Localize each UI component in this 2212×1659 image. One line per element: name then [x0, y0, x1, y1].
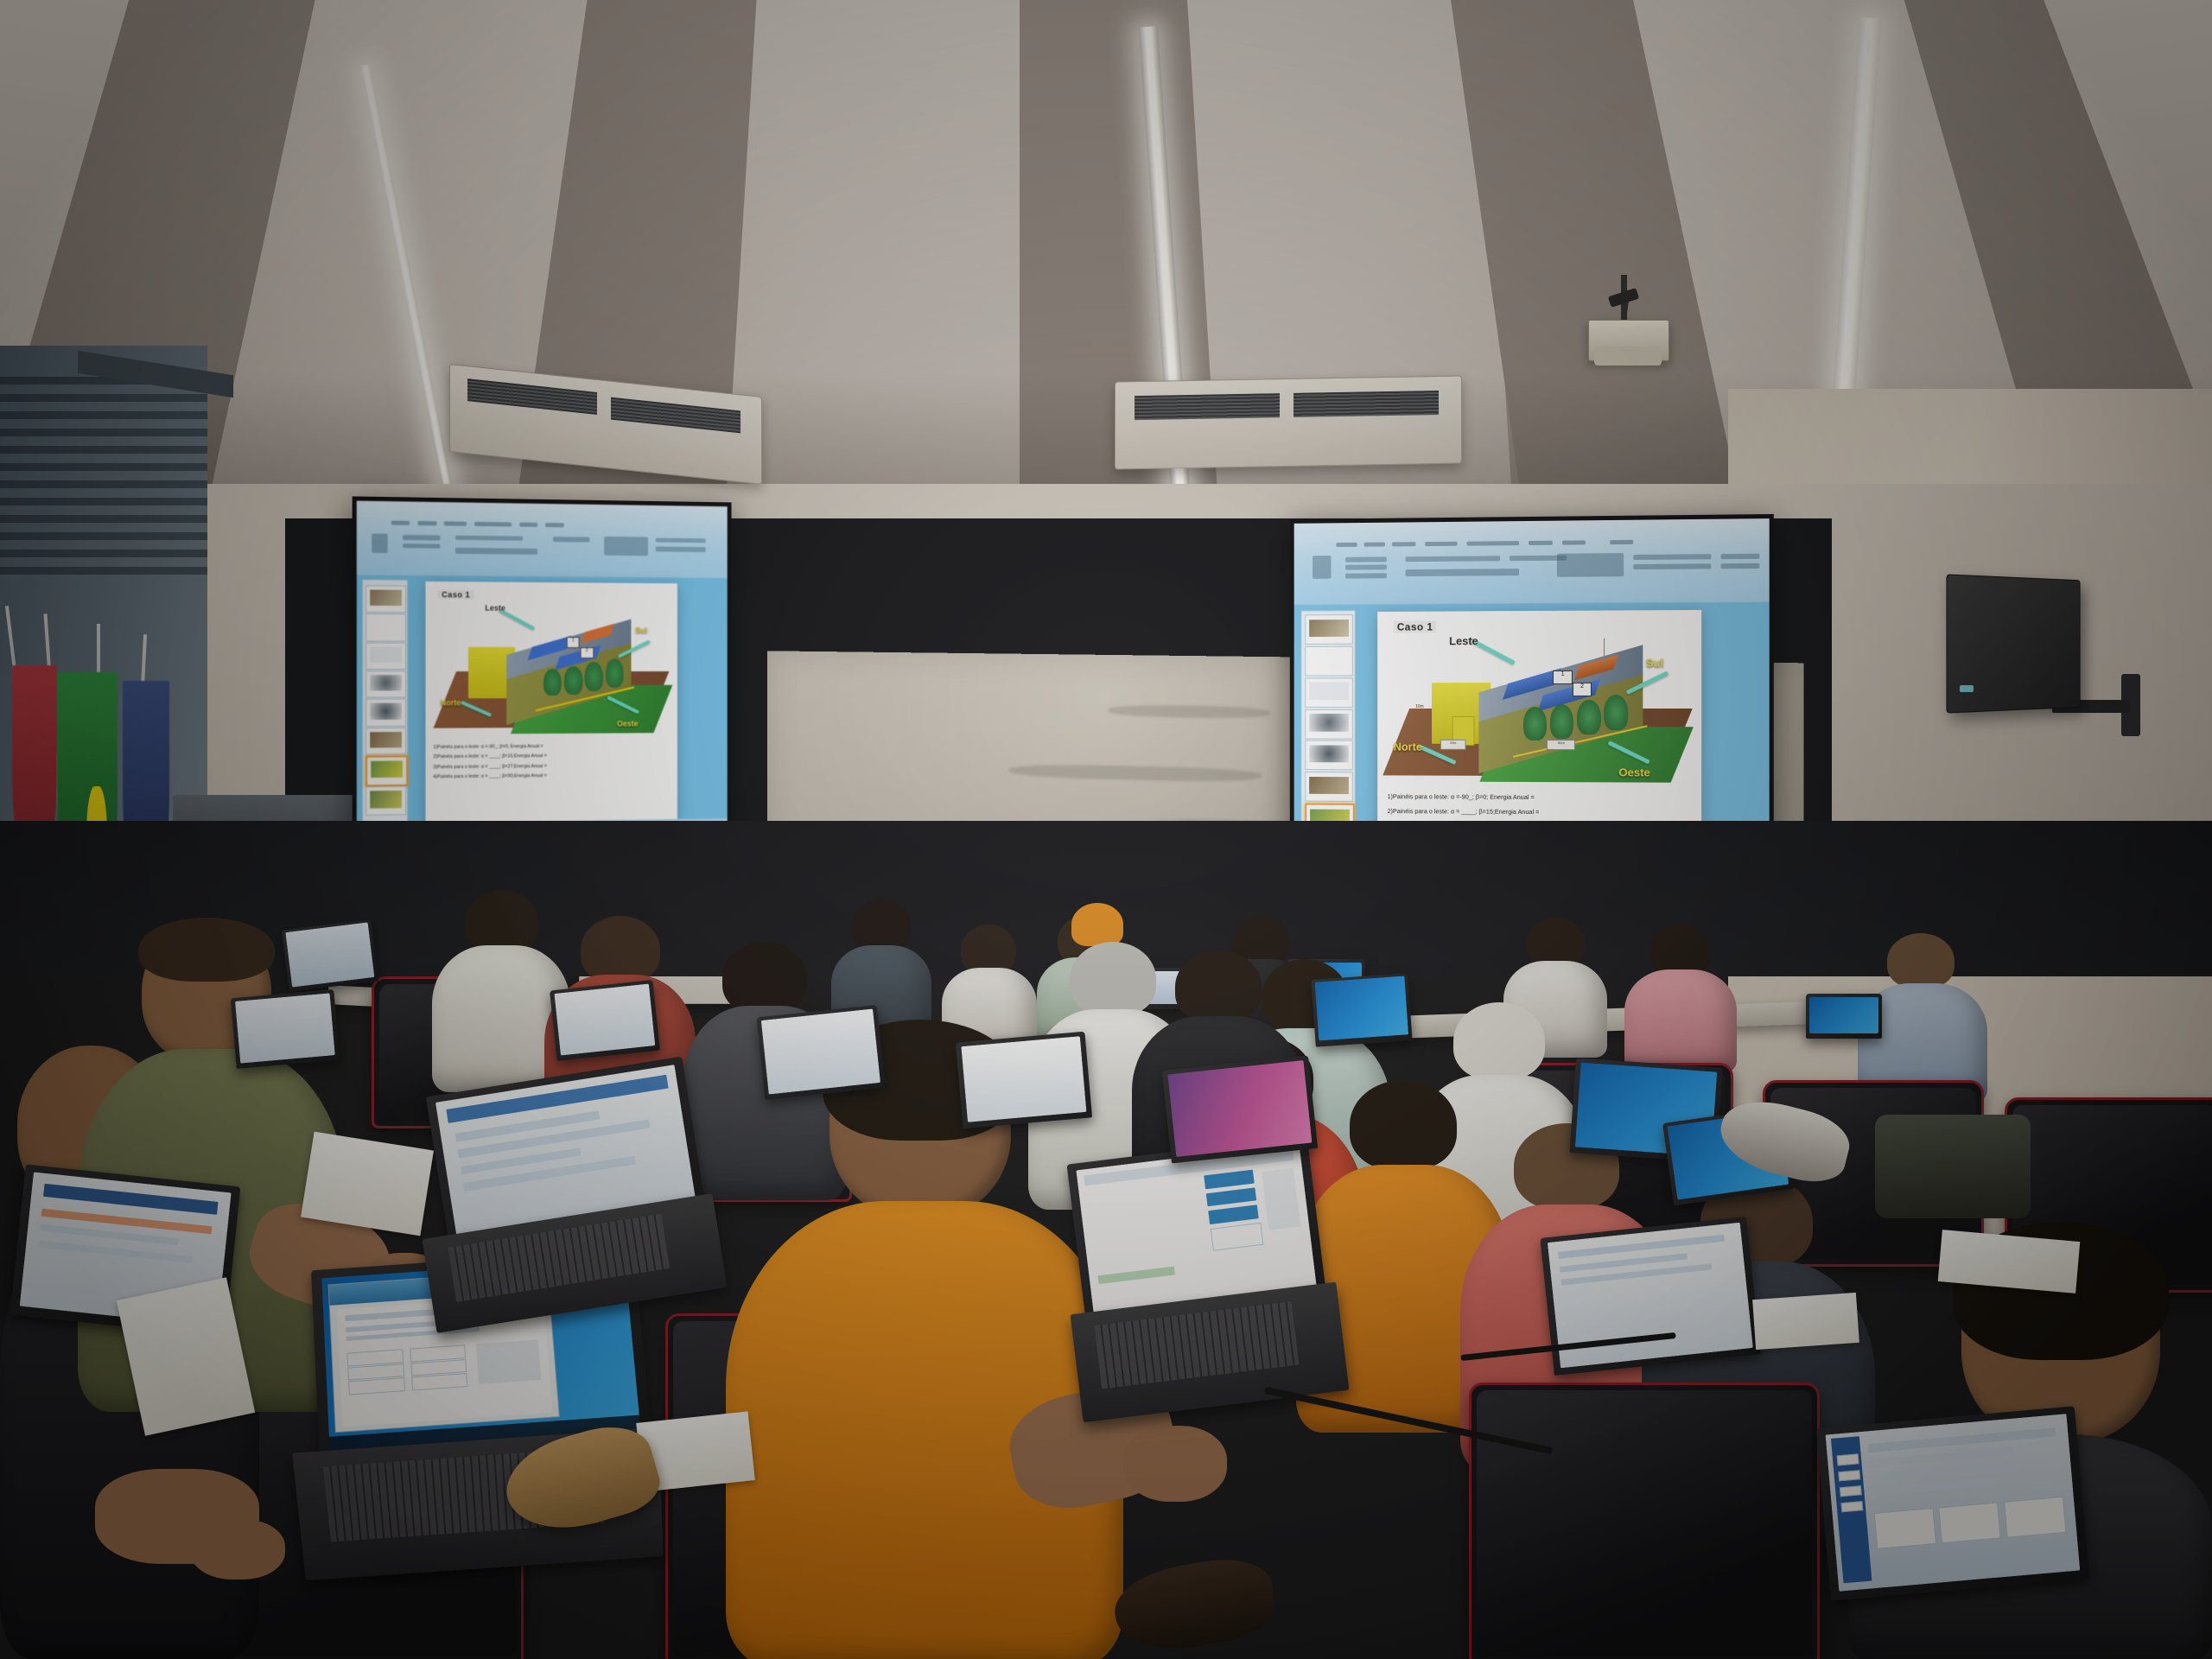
panel-label-1: 1 — [1553, 671, 1573, 684]
laptop[interactable] — [428, 1076, 721, 1309]
compass-north: Norte — [1394, 741, 1422, 753]
slide-case-label: Caso 1 — [1394, 620, 1437, 632]
slide-illustration: 1 2 Leste Sul Norte Oes — [435, 601, 667, 737]
laptop[interactable] — [959, 1037, 1097, 1141]
slide-thumbnail-pane[interactable] — [362, 580, 408, 829]
ceiling-mounted-projector — [1588, 320, 1669, 361]
question-line: 3)Painéis para o leste: α = ____; β=27;E… — [433, 760, 670, 772]
left-projection-screen: Caso 1 1 2 — [353, 496, 732, 839]
compass-west: Oeste — [617, 720, 638, 728]
hand — [1123, 1426, 1227, 1502]
laptop[interactable] — [1313, 976, 1417, 1058]
laptop[interactable] — [760, 1011, 890, 1110]
question-line: 1)Painéis para o leste: α =-90_; β=0; En… — [1388, 791, 1692, 806]
question-line: 1)Painéis para o leste: α =-90_; β=0; En… — [433, 741, 670, 752]
laptop[interactable] — [233, 994, 346, 1080]
compass-east: Leste — [1449, 634, 1478, 647]
compass-east: Leste — [485, 604, 505, 613]
question-line: 2)Painéis para o leste: α = ____; β=15;E… — [433, 751, 670, 761]
slide-illustration: 1 2 10m 50m 10m — [1390, 632, 1688, 785]
laptop[interactable] — [1547, 1227, 1780, 1400]
paper-sheet — [1752, 1293, 1859, 1350]
compass-north: Norte — [441, 698, 461, 707]
panel-label-2: 2 — [581, 647, 594, 658]
laptop[interactable] — [1175, 1046, 1331, 1166]
dim-length-label: 50m — [1547, 740, 1575, 751]
wall-mounted-speaker — [1946, 574, 2080, 713]
panel-label-1: 1 — [567, 637, 580, 648]
compass-south: Sul — [635, 626, 647, 635]
laptop[interactable] — [1823, 1417, 2117, 1659]
person — [1624, 925, 1737, 1063]
speaker-indicator-led — [1960, 685, 1974, 692]
seat — [1469, 1382, 1820, 1659]
compass-south: Sul — [1646, 657, 1663, 670]
hand — [190, 1519, 285, 1580]
air-conditioner-right — [1115, 375, 1462, 469]
dim-width-label: 10m — [1440, 739, 1465, 750]
question-line: 4)Painéis para o leste: α = ____; β=90;E… — [433, 771, 670, 782]
slide-canvas: Caso 1 1 2 — [425, 582, 677, 824]
slide-case-label: Caso 1 — [438, 590, 474, 599]
dim-height-label: 10m — [1415, 704, 1424, 709]
backpack — [1875, 1115, 2031, 1218]
slide-questions: 1)Painéis para o leste: α =-90_; β=0; En… — [433, 741, 670, 821]
panel-label-2: 2 — [1573, 683, 1592, 696]
laptop[interactable] — [1806, 994, 1882, 1044]
laptop[interactable] — [553, 985, 665, 1071]
classroom-photo: Caso 1 1 2 — [0, 0, 2212, 1659]
question-line: 2)Painéis para o leste: α = ____; β=15;E… — [1388, 805, 1692, 820]
shoe — [1109, 1551, 1281, 1659]
paper-sheet — [301, 1132, 434, 1236]
compass-west: Oeste — [1618, 766, 1649, 779]
